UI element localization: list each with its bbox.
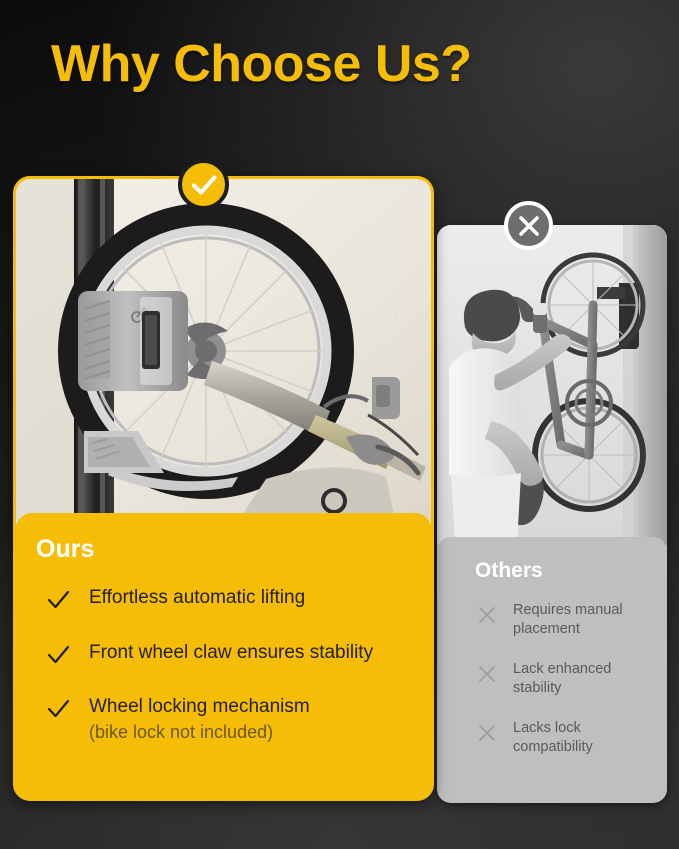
list-item: Wheel locking mechanism (bike lock not i… (36, 695, 413, 744)
check-icon (189, 170, 219, 200)
list-item-label: Wheel locking mechanism (89, 696, 310, 717)
check-icon (47, 589, 70, 611)
ours-panel: Ours Effortless automatic lifting Front … (16, 513, 431, 801)
ours-photo-illustration (16, 179, 431, 524)
list-item: Effortless automatic lifting (36, 586, 413, 611)
comparison-card-others: Others Requires manual placement Lack en… (437, 225, 667, 803)
close-icon (477, 723, 497, 743)
list-item: Lacks lock compatibility (475, 719, 651, 756)
list-item: Lack enhanced stability (475, 660, 651, 697)
page-title: Why Choose Us? (51, 36, 472, 92)
others-feature-list: Requires manual placement Lack enhanced … (475, 601, 651, 756)
list-item-label: Front wheel claw ensures stability (89, 642, 373, 663)
ours-photo (16, 179, 431, 524)
others-heading: Others (475, 559, 651, 583)
close-icon (477, 605, 497, 625)
others-photo (437, 225, 667, 545)
others-badge (504, 201, 553, 250)
ours-badge (178, 159, 229, 210)
comparison-card-ours: Ours Effortless automatic lifting Front … (13, 176, 434, 801)
close-icon (516, 213, 542, 239)
others-panel: Others Requires manual placement Lack en… (437, 537, 667, 803)
wall-shadow (635, 225, 667, 545)
list-item-label: Lack enhanced stability (513, 661, 611, 696)
list-item: Requires manual placement (475, 601, 651, 638)
list-item-label: Requires manual placement (513, 602, 623, 637)
check-icon (47, 698, 70, 720)
others-photo-illustration (437, 225, 667, 545)
close-icon (477, 664, 497, 684)
list-item-note: (bike lock not included) (89, 721, 413, 744)
list-item: Front wheel claw ensures stability (36, 641, 413, 666)
list-item-label: Effortless automatic lifting (89, 587, 305, 608)
list-item-label: Lacks lock compatibility (513, 720, 593, 755)
check-icon (47, 644, 70, 666)
ours-heading: Ours (36, 535, 413, 564)
ours-feature-list: Effortless automatic lifting Front wheel… (36, 586, 413, 744)
